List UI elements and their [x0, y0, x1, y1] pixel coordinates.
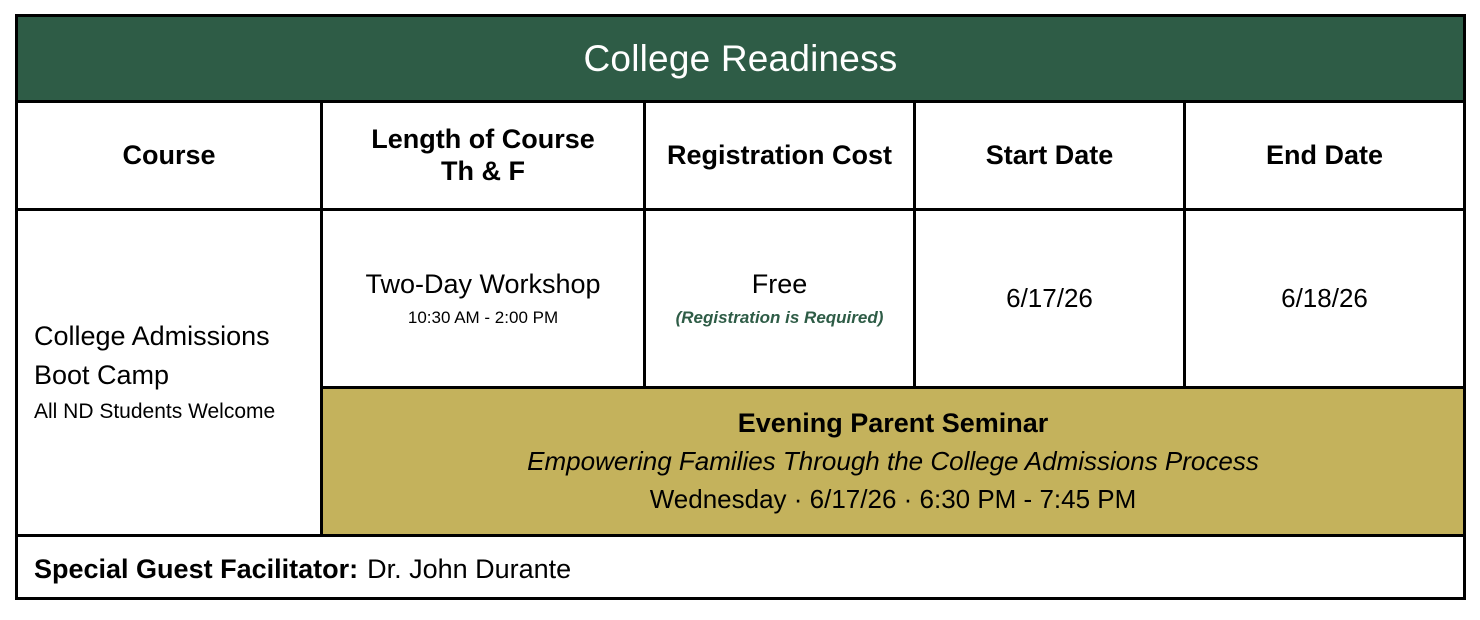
registration-required-note: (Registration is Required)	[676, 307, 884, 330]
column-header-registration-cost-label: Registration Cost	[667, 140, 892, 172]
seminar-schedule: Wednesday · 6/17/26 · 6:30 PM - 7:45 PM	[650, 481, 1137, 519]
column-header-length-label: Length of Course	[371, 124, 595, 156]
course-details-stack: Two-Day Workshop 10:30 AM - 2:00 PM Free…	[323, 211, 1463, 534]
end-date-value: 6/18/26	[1281, 282, 1368, 316]
start-date-cell: 6/17/26	[916, 211, 1186, 386]
registration-cost-value: Free	[752, 267, 808, 302]
college-readiness-flyer: College Readiness Course Length of Cours…	[15, 14, 1466, 600]
facilitator-name: Dr. John Durante	[367, 554, 571, 585]
column-header-start-date: Start Date	[916, 103, 1186, 208]
evening-parent-seminar-band: Evening Parent Seminar Empowering Famili…	[323, 389, 1463, 534]
column-header-length: Length of Course Th & F	[323, 103, 646, 208]
registration-cost-cell: Free (Registration is Required)	[646, 211, 916, 386]
column-header-start-date-label: Start Date	[986, 140, 1114, 172]
start-date-value: 6/17/26	[1006, 282, 1093, 316]
course-name: College Admissions Boot Camp	[34, 317, 270, 394]
page-title: College Readiness	[584, 40, 898, 77]
column-header-length-days: Th & F	[441, 156, 525, 188]
course-cell: College Admissions Boot Camp All ND Stud…	[18, 211, 323, 534]
length-of-course-time: 10:30 AM - 2:00 PM	[408, 307, 558, 330]
banner: College Readiness	[18, 17, 1463, 103]
length-of-course-value: Two-Day Workshop	[365, 267, 600, 302]
column-header-course-label: Course	[122, 140, 215, 172]
column-header-end-date: End Date	[1186, 103, 1463, 208]
seminar-title: Evening Parent Seminar	[738, 404, 1049, 443]
table-header-row: Course Length of Course Th & F Registrat…	[18, 103, 1463, 211]
column-header-registration-cost: Registration Cost	[646, 103, 916, 208]
seminar-subtitle: Empowering Families Through the College …	[527, 443, 1259, 481]
facilitator-row: Special Guest Facilitator: Dr. John Dura…	[18, 537, 1463, 601]
column-header-course: Course	[18, 103, 323, 208]
table-body-row: College Admissions Boot Camp All ND Stud…	[18, 211, 1463, 537]
column-header-end-date-label: End Date	[1266, 140, 1383, 172]
course-subtitle: All ND Students Welcome	[34, 396, 275, 428]
end-date-cell: 6/18/26	[1186, 211, 1463, 386]
length-of-course-cell: Two-Day Workshop 10:30 AM - 2:00 PM	[323, 211, 646, 386]
course-detail-row: Two-Day Workshop 10:30 AM - 2:00 PM Free…	[323, 211, 1463, 389]
facilitator-label: Special Guest Facilitator:	[34, 554, 358, 585]
